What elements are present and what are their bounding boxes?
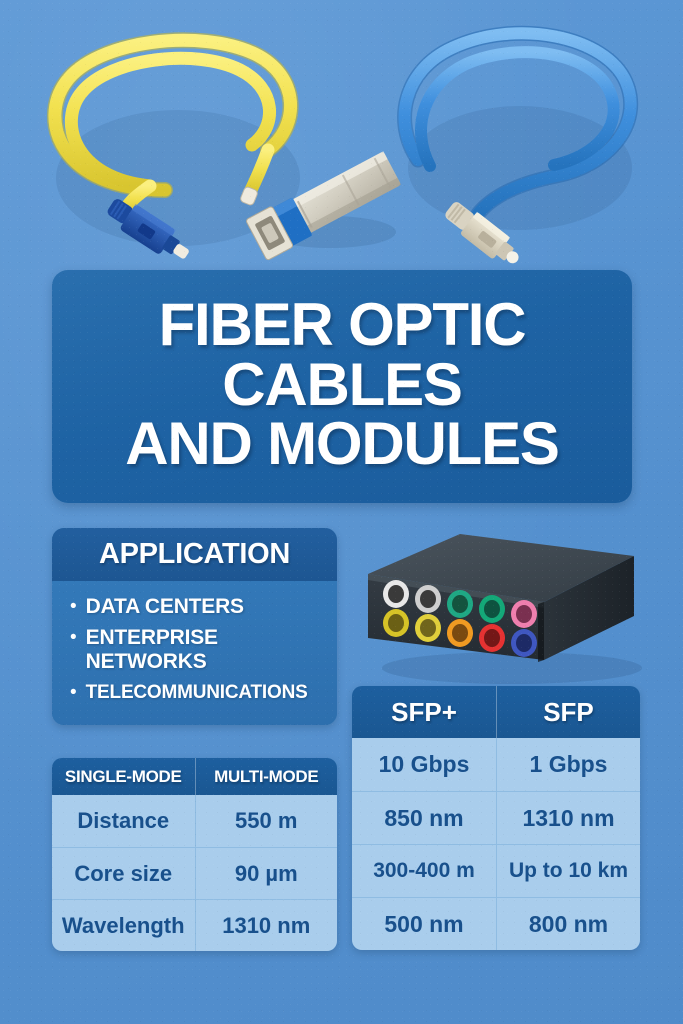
table-row: Distance 550 m	[52, 795, 337, 847]
table-cell: 90 µm	[195, 848, 338, 899]
sfp-comparison-table: SFP+ SFP 10 Gbps 1 Gbps 850 nm 1310 nm 3…	[352, 686, 640, 950]
title-line-3: AND MODULES	[125, 414, 558, 473]
patch-panel-svg	[352, 528, 652, 686]
patch-panel-illustration	[352, 528, 652, 686]
application-item-label: TELECOMMUNICATIONS	[86, 681, 308, 705]
table-cell: 850 nm	[352, 792, 496, 844]
table-row: 850 nm 1310 nm	[352, 791, 640, 844]
bullet-icon: •	[70, 595, 77, 619]
table-header-cell: SINGLE-MODE	[52, 758, 195, 795]
application-card-header: APPLICATION	[52, 528, 337, 581]
application-heading: APPLICATION	[99, 538, 290, 571]
table-row: 10 Gbps 1 Gbps	[352, 738, 640, 791]
table-row: Core size 90 µm	[52, 847, 337, 899]
title-line-2: CABLES	[222, 355, 461, 414]
table-cell: Core size	[52, 848, 195, 899]
application-item-label: DATA CENTERS	[86, 595, 244, 619]
poster-title-banner: FIBER OPTIC CABLES AND MODULES	[52, 270, 632, 503]
table-header-cell: MULTI-MODE	[195, 758, 338, 795]
table-cell: Up to 10 km	[496, 845, 640, 897]
blue-cable-group	[405, 33, 632, 272]
bullet-icon: •	[70, 626, 77, 650]
panel-port	[511, 600, 537, 628]
panel-port	[479, 624, 505, 652]
table-cell: 300-400 m	[352, 845, 496, 897]
table-row: 500 nm 800 nm	[352, 897, 640, 950]
table-cell: 1 Gbps	[496, 738, 640, 791]
table-cell: Wavelength	[52, 900, 195, 951]
application-item-label: ENTERPRISE NETWORKS	[86, 626, 325, 674]
table-cell: Distance	[52, 795, 195, 847]
table-row: 300-400 m Up to 10 km	[352, 844, 640, 897]
table-cell: 550 m	[195, 795, 338, 847]
table-row: Wavelength 1310 nm	[52, 899, 337, 951]
title-line-1: FIBER OPTIC	[159, 295, 526, 354]
panel-port	[511, 629, 537, 657]
table-header-row: SFP+ SFP	[352, 686, 640, 738]
table-header-cell: SFP	[496, 686, 640, 738]
mode-comparison-table: SINGLE-MODE MULTI-MODE Distance 550 m Co…	[52, 758, 337, 951]
list-item: • DATA CENTERS	[70, 595, 325, 619]
table-cell: 1310 nm	[496, 792, 640, 844]
list-item: • TELECOMMUNICATIONS	[70, 681, 325, 705]
table-header-row: SINGLE-MODE MULTI-MODE	[52, 758, 337, 795]
table-cell: 1310 nm	[195, 900, 338, 951]
panel-port	[415, 585, 441, 613]
fiber-products-svg	[0, 0, 683, 275]
hero-product-illustration	[0, 0, 683, 268]
table-header-cell: SFP+	[352, 686, 496, 738]
infographic-poster: FIBER OPTIC CABLES AND MODULES APPLICATI…	[0, 0, 683, 1024]
panel-port	[479, 595, 505, 623]
panel-port	[447, 590, 473, 618]
list-item: • ENTERPRISE NETWORKS	[70, 626, 325, 674]
table-cell: 800 nm	[496, 898, 640, 950]
panel-port	[415, 614, 441, 642]
panel-port	[383, 580, 409, 608]
application-card: APPLICATION • DATA CENTERS • ENTERPRISE …	[52, 528, 337, 725]
table-cell: 10 Gbps	[352, 738, 496, 791]
panel-port	[383, 609, 409, 637]
table-cell: 500 nm	[352, 898, 496, 950]
bullet-icon: •	[70, 681, 77, 705]
application-list: • DATA CENTERS • ENTERPRISE NETWORKS • T…	[52, 581, 337, 725]
panel-port	[447, 619, 473, 647]
